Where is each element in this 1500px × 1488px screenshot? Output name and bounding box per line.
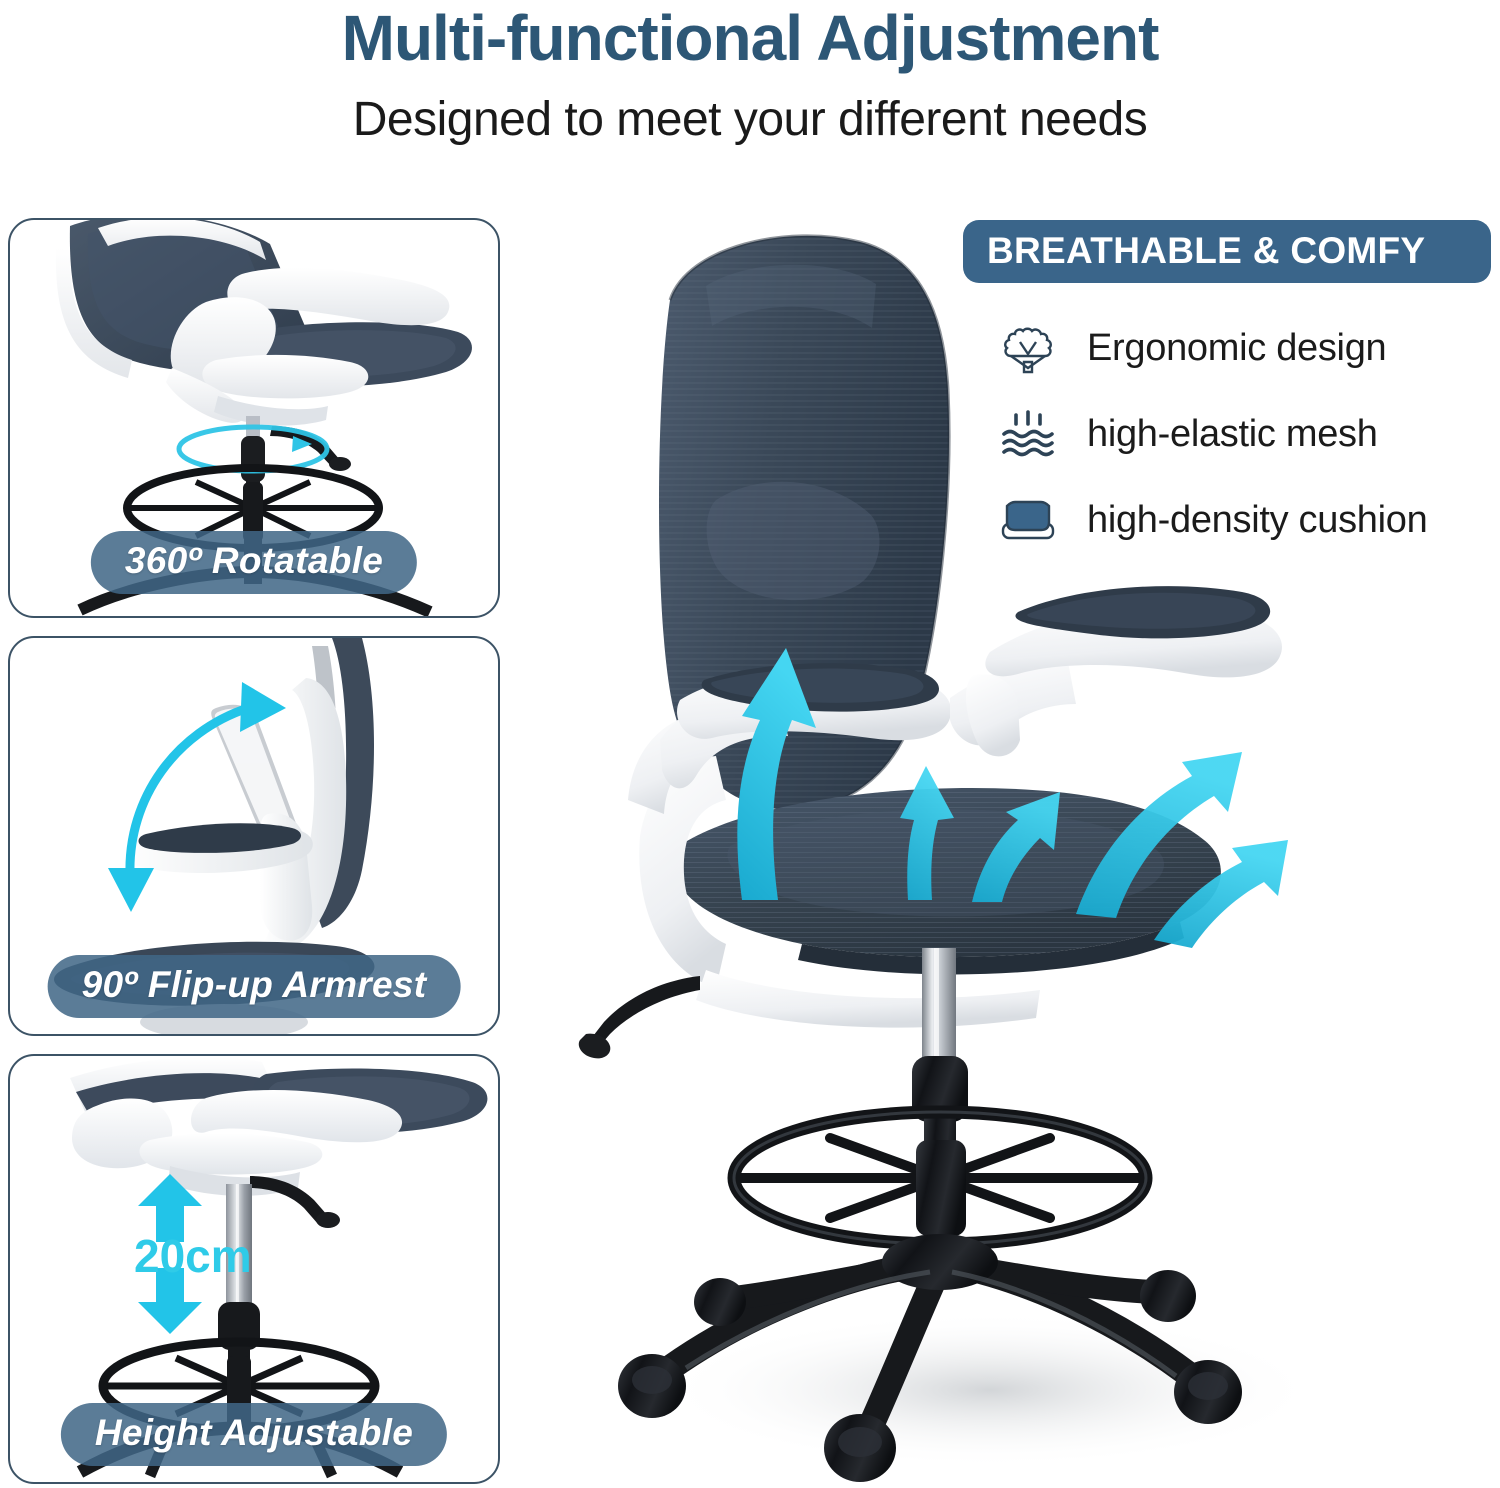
panel-360-rotatable[interactable]: 360º Rotatable xyxy=(8,218,500,618)
panel-label-360-rotatable: 360º Rotatable xyxy=(91,531,417,594)
page-subtitle: Designed to meet your different needs xyxy=(0,96,1500,144)
panel-label-height-adjustable: Height Adjustable xyxy=(61,1403,447,1466)
product-hero-image xyxy=(520,200,1500,1488)
header: Multi-functional Adjustment Designed to … xyxy=(0,0,1500,190)
page-title: Multi-functional Adjustment xyxy=(0,0,1500,70)
height-value-text: 20cm xyxy=(134,1230,252,1282)
panel-flip-up-armrest[interactable]: 90º Flip-up Armrest xyxy=(8,636,500,1036)
feature-panel-group: 360º Rotatable xyxy=(8,218,500,1484)
panel-label-flip-up-armrest: 90º Flip-up Armrest xyxy=(48,955,461,1018)
panel-height-adjustable[interactable]: 20cm Height Adjustable xyxy=(8,1054,500,1484)
